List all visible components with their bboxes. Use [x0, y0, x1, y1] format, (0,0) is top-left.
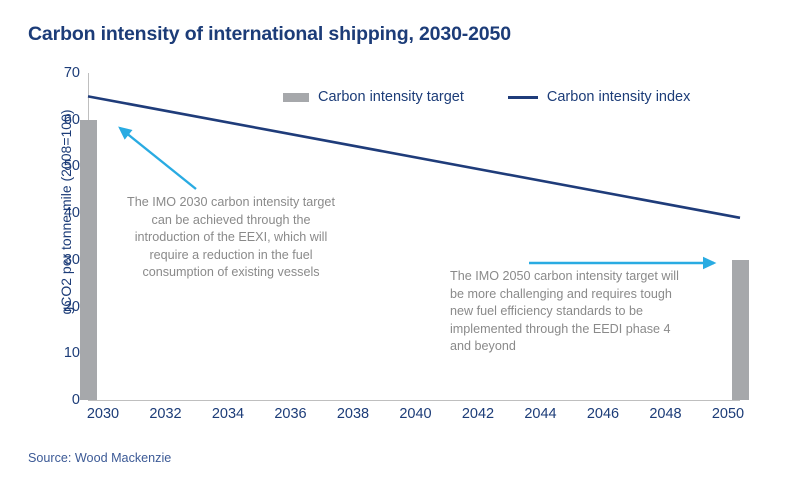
source-note: Source: Wood Mackenzie [28, 451, 171, 465]
y-tick-label: 40 [6, 205, 80, 221]
x-tick-label: 2032 [149, 406, 181, 422]
x-tick-label: 2038 [337, 406, 369, 422]
y-tick-label: 60 [6, 112, 80, 128]
x-tick-label: 2050 [712, 406, 744, 422]
legend-item-carbon-intensity-index[interactable]: Carbon intensity index [508, 89, 690, 105]
x-axis-ticks: 2030 2032 2034 2036 2038 2040 2042 2044 … [0, 406, 800, 430]
annotation-arrow-2030 [120, 128, 196, 189]
x-tick-label: 2046 [587, 406, 619, 422]
chart-container: Carbon intensity of international shippi… [0, 0, 800, 480]
x-tick-label: 2044 [524, 406, 556, 422]
x-tick-label: 2034 [212, 406, 244, 422]
x-tick-label: 2048 [649, 406, 681, 422]
x-tick-label: 2042 [462, 406, 494, 422]
legend-bar-swatch-icon [283, 93, 309, 102]
annotation-text-2030: The IMO 2030 carbon intensity target can… [118, 194, 344, 282]
x-tick-label: 2030 [87, 406, 119, 422]
x-axis-line [88, 400, 740, 401]
y-tick-label: 20 [6, 299, 80, 315]
annotation-text-2050: The IMO 2050 carbon intensity target wil… [450, 268, 688, 356]
x-tick-label: 2040 [399, 406, 431, 422]
y-tick-label: 70 [6, 65, 80, 81]
legend-label-index: Carbon intensity index [547, 89, 690, 105]
bar-2030 [80, 120, 97, 400]
legend-label-target: Carbon intensity target [318, 89, 464, 105]
x-tick-label: 2036 [274, 406, 306, 422]
legend-item-carbon-intensity-target[interactable]: Carbon intensity target [283, 89, 464, 105]
chart-legend: Carbon intensity target Carbon intensity… [283, 88, 690, 106]
y-tick-label: 10 [6, 345, 80, 361]
y-tick-label: 30 [6, 252, 80, 268]
chart-title: Carbon intensity of international shippi… [28, 23, 511, 46]
y-tick-label: 50 [6, 158, 80, 174]
bar-2050 [732, 260, 749, 400]
legend-line-swatch-icon [508, 96, 538, 99]
